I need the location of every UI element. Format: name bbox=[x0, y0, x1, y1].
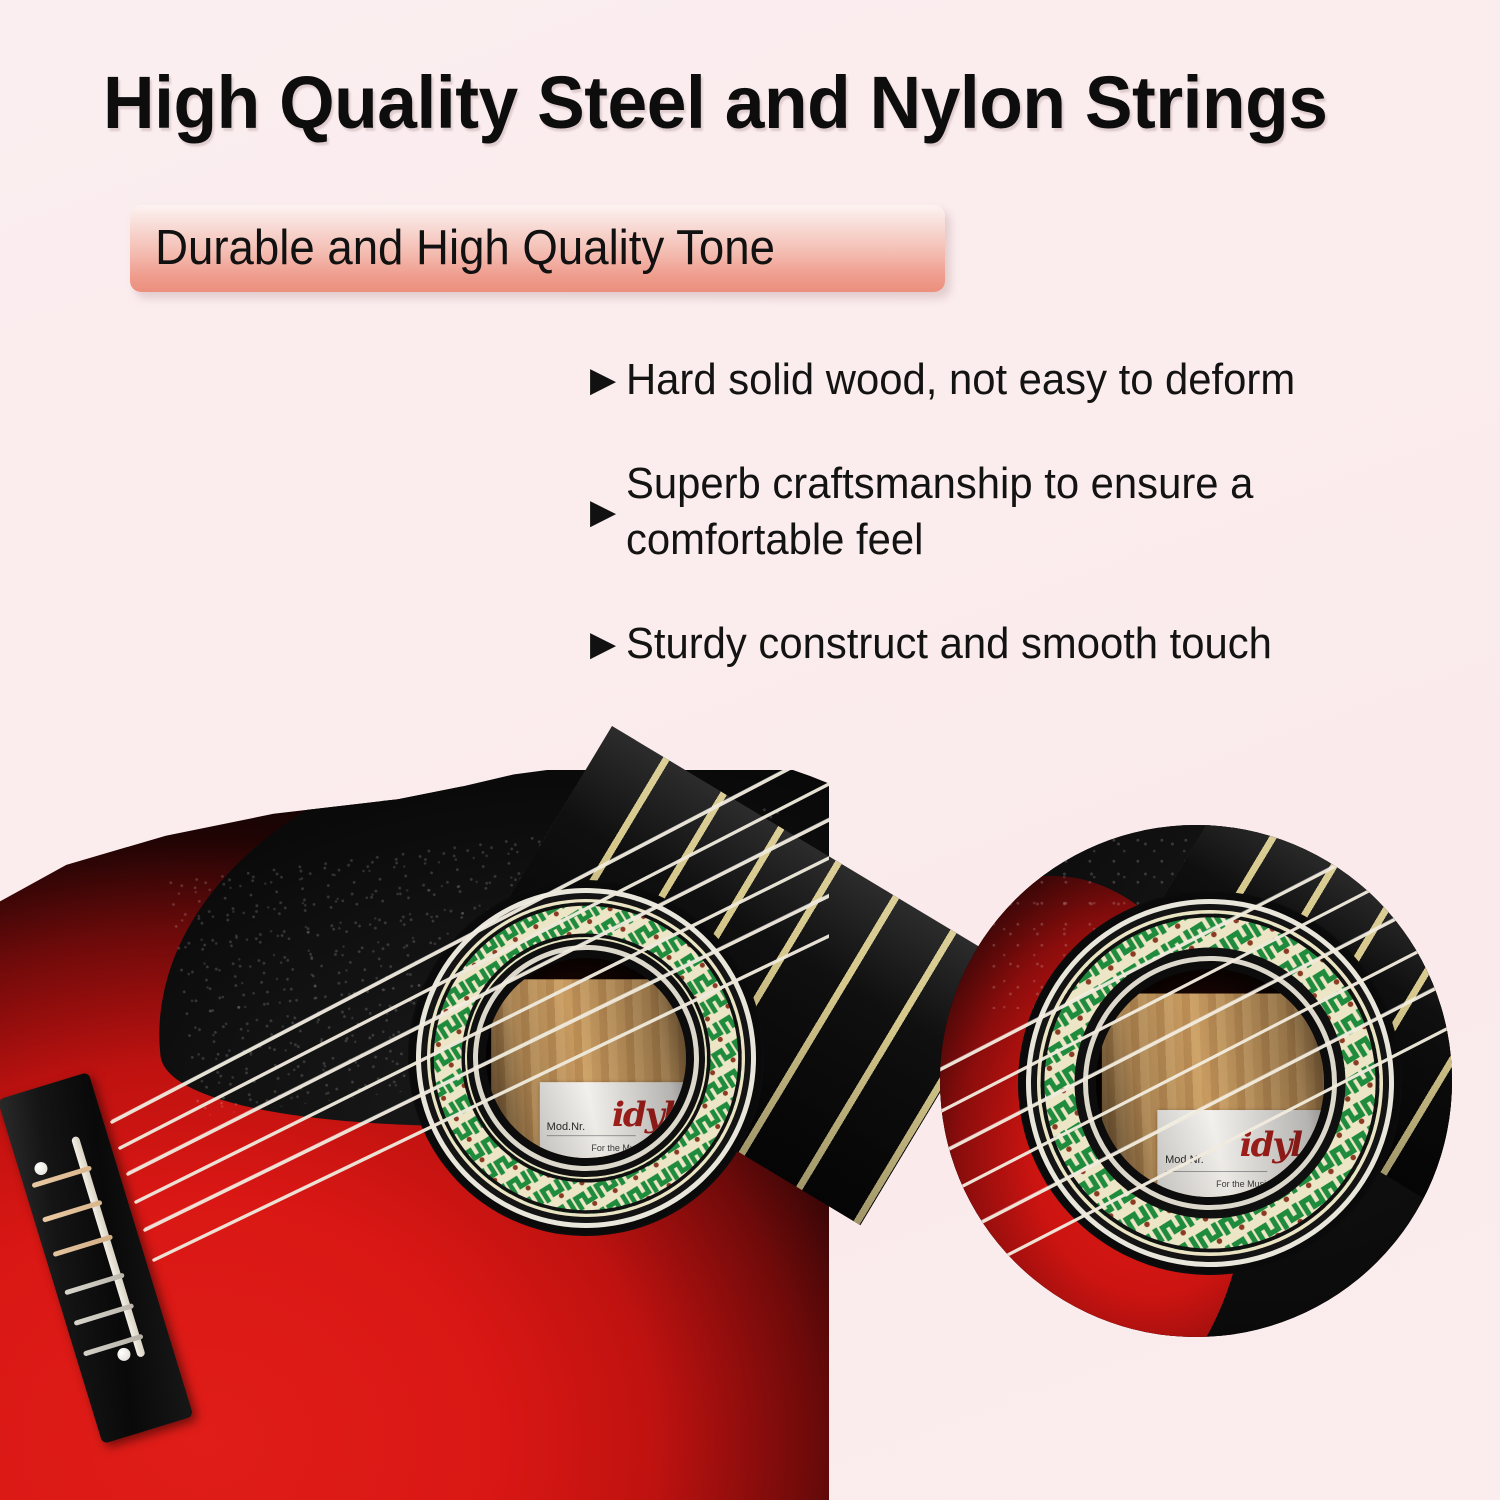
product-feature-card: High Quality Steel and Nylon Strings Dur… bbox=[0, 0, 1500, 1500]
badge-label: Durable and High Quality Tone bbox=[130, 224, 775, 273]
list-item: ▶ Superb craftsmanship to ensure a comfo… bbox=[590, 456, 1490, 568]
triangle-right-icon: ▶ bbox=[590, 484, 626, 540]
list-item-label: Hard solid wood, not easy to deform bbox=[626, 352, 1447, 408]
feature-list: ▶ Hard solid wood, not easy to deform ▶ … bbox=[590, 352, 1490, 672]
list-item-label: Sturdy construct and smooth touch bbox=[626, 616, 1447, 672]
list-item: ▶ Sturdy construct and smooth touch bbox=[590, 616, 1490, 672]
triangle-right-icon: ▶ bbox=[590, 616, 626, 672]
page-title: High Quality Steel and Nylon Strings bbox=[103, 66, 1386, 140]
status-badge: Durable and High Quality Tone bbox=[130, 205, 945, 292]
list-item-label: Superb craftsmanship to ensure a comfort… bbox=[626, 456, 1348, 568]
triangle-right-icon: ▶ bbox=[590, 352, 626, 408]
soundhole-closeup-circle: idyl Mod.Nr. For the Music bbox=[940, 825, 1452, 1337]
list-item: ▶ Hard solid wood, not easy to deform bbox=[590, 352, 1490, 408]
